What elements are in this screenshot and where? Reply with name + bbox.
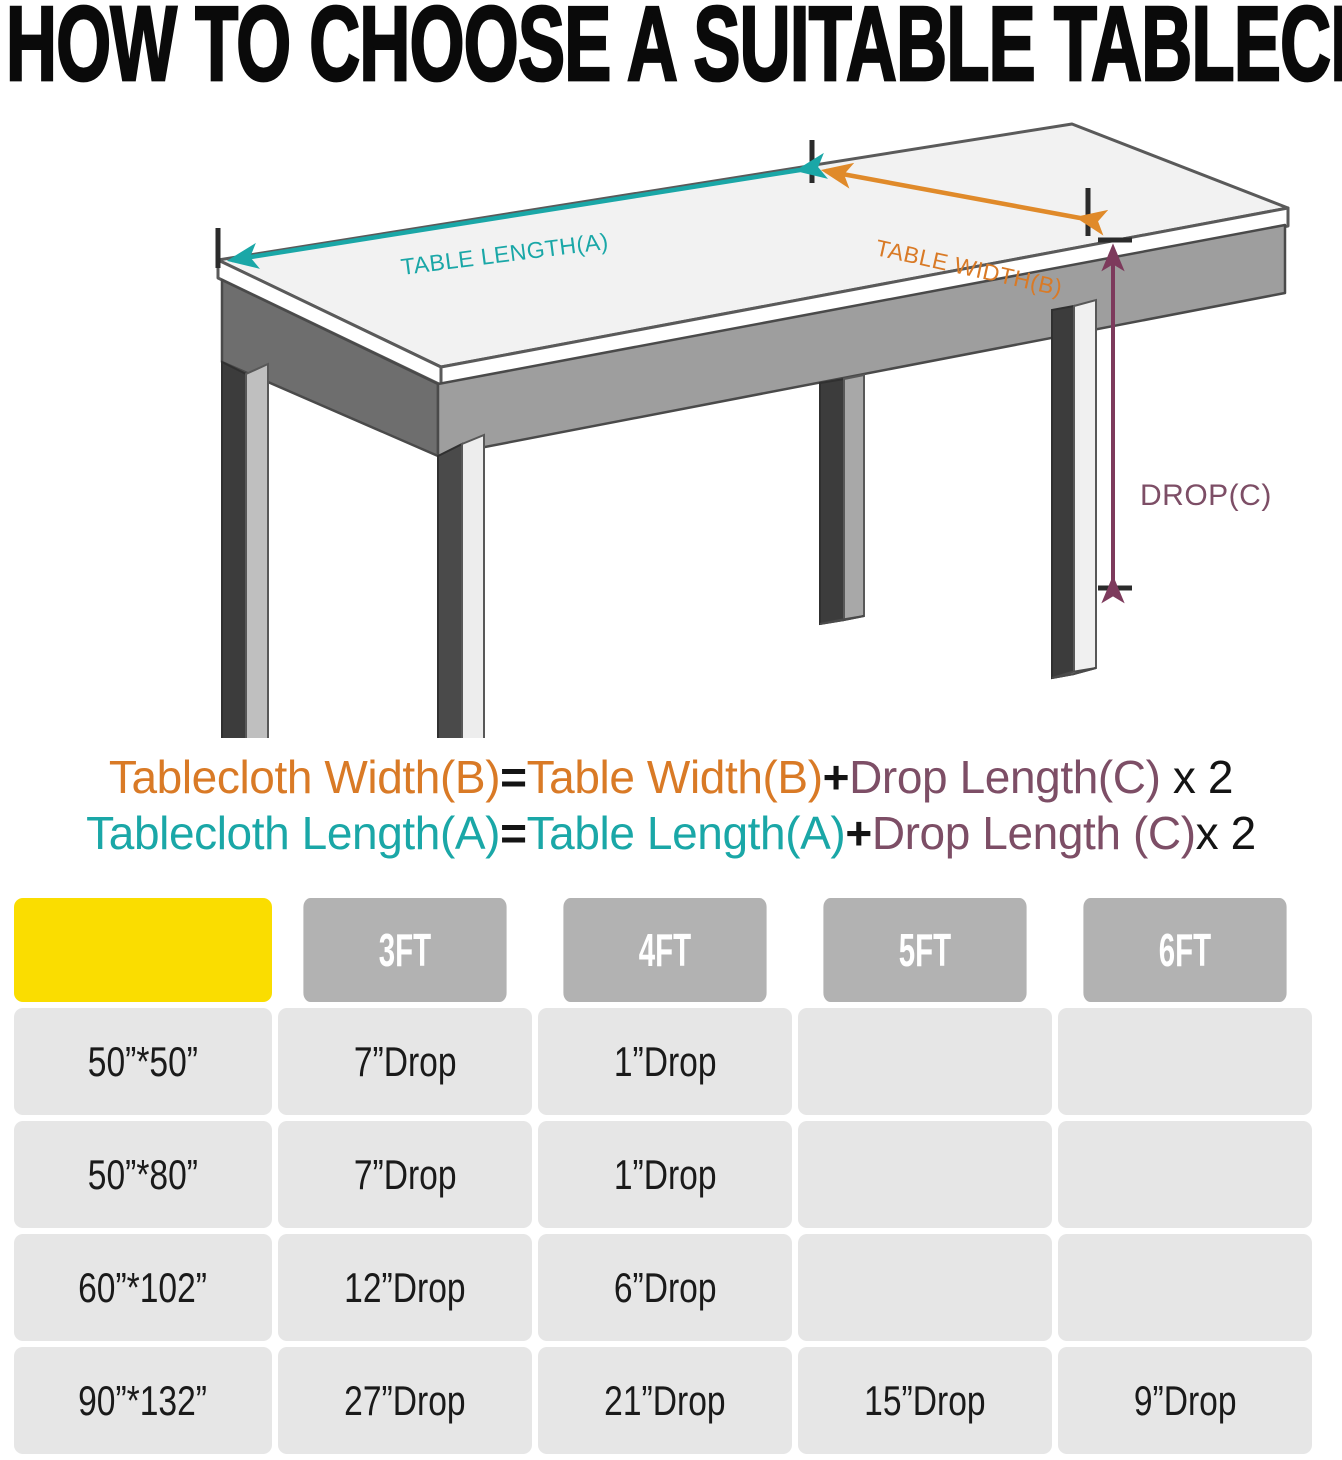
label-drop: DROP(C): [1140, 479, 1272, 513]
table-cell-size: 50”*50”: [14, 1008, 272, 1115]
table-cell-drop-6ft: [1058, 1008, 1312, 1115]
tablecloth-size-table: 3FT 4FT 5FT 6FT 50”*50” 7”Drop 1”Drop 50…: [14, 898, 1312, 1460]
table-illustration-svg: [0, 88, 1342, 738]
table-cell-drop-4ft: 1”Drop: [538, 1121, 792, 1228]
table-cell-drop-3ft-label: 12”Drop: [344, 1264, 465, 1312]
leg-back-middle-dark: [820, 379, 844, 624]
formula-width-part2: Table Width(B): [527, 751, 823, 803]
table-header-3ft-label: 3FT: [379, 923, 431, 977]
formula-length-part3: Drop Length (C): [872, 807, 1196, 859]
formula-width-part4: x 2: [1161, 751, 1234, 803]
formula-length-part2: Table Length(A): [527, 807, 846, 859]
leg-front-corner: [438, 435, 484, 738]
page-title: HOW TO CHOOSE A SUITABLE TABLECLOTH?: [6, 0, 1342, 88]
formula-length-plus: +: [845, 807, 871, 859]
table-row: 60”*102” 12”Drop 6”Drop: [14, 1234, 1312, 1341]
formula-length-part4: x 2: [1196, 807, 1256, 859]
table-cell-drop-4ft: 21”Drop: [538, 1347, 792, 1454]
table-cell-drop-6ft-label: 9”Drop: [1134, 1377, 1237, 1425]
table-cell-drop-3ft: 27”Drop: [278, 1347, 532, 1454]
table-cell-drop-4ft: 1”Drop: [538, 1008, 792, 1115]
table-cell-drop-5ft: 15”Drop: [798, 1347, 1052, 1454]
table-cell-drop-3ft: 7”Drop: [278, 1008, 532, 1115]
table-measurement-diagram: TABLE LENGTH(A) TABLE WIDTH(B) DROP(C): [0, 88, 1342, 738]
formula-block: Tablecloth Width(B)=Table Width(B)+Drop …: [0, 752, 1342, 872]
table-cell-size-label: 50”*50”: [88, 1038, 198, 1086]
table-cell-drop-6ft: 9”Drop: [1058, 1347, 1312, 1454]
leg-front-corner-dark: [438, 444, 462, 738]
leg-front-left-light: [246, 364, 268, 738]
leg-back-middle-light: [844, 375, 864, 620]
table-header-4ft: 4FT: [563, 898, 766, 1002]
table-header-5ft: 5FT: [823, 898, 1026, 1002]
table-header-3ft: 3FT: [303, 898, 506, 1002]
table-row: 90”*132” 27”Drop 21”Drop 15”Drop 9”Drop: [14, 1347, 1312, 1454]
table-cell-drop-6ft: [1058, 1121, 1312, 1228]
table-cell-size-label: 60”*102”: [79, 1264, 208, 1312]
table-cell-drop-5ft: [798, 1234, 1052, 1341]
table-cell-size-label: 90”*132”: [79, 1377, 208, 1425]
table-header-corner-cell: [14, 898, 272, 1002]
table-row: 50”*80” 7”Drop 1”Drop: [14, 1121, 1312, 1228]
table-cell-drop-3ft-label: 27”Drop: [344, 1377, 465, 1425]
table-header-4ft-label: 4FT: [639, 923, 691, 977]
table-cell-size: 90”*132”: [14, 1347, 272, 1454]
table-cell-drop-3ft: 7”Drop: [278, 1121, 532, 1228]
table-cell-drop-3ft-label: 7”Drop: [354, 1151, 457, 1199]
table-row: 50”*50” 7”Drop 1”Drop: [14, 1008, 1312, 1115]
formula-width-equals: =: [500, 751, 526, 803]
table-cell-drop-5ft-label: 15”Drop: [864, 1377, 985, 1425]
formula-width-plus: +: [823, 751, 849, 803]
table-header-6ft-label: 6FT: [1159, 923, 1211, 977]
table-cell-size-label: 50”*80”: [88, 1151, 198, 1199]
formula-length-part1: Tablecloth Length(A): [86, 807, 500, 859]
table-cell-drop-5ft: [798, 1121, 1052, 1228]
formula-length-equals: =: [500, 807, 526, 859]
leg-right: [1052, 300, 1096, 678]
formula-tablecloth-width: Tablecloth Width(B)=Table Width(B)+Drop …: [0, 752, 1342, 802]
formula-tablecloth-length: Tablecloth Length(A)=Table Length(A)+Dro…: [0, 808, 1342, 858]
table-cell-drop-4ft-label: 1”Drop: [614, 1151, 717, 1199]
table-cell-size: 50”*80”: [14, 1121, 272, 1228]
leg-right-dark: [1052, 306, 1074, 678]
table-cell-drop-3ft-label: 7”Drop: [354, 1038, 457, 1086]
formula-width-part1: Tablecloth Width(B): [109, 751, 500, 803]
title-bar: HOW TO CHOOSE A SUITABLE TABLECLOTH?: [0, 0, 1342, 88]
leg-front-left: [222, 362, 268, 738]
table-cell-drop-4ft: 6”Drop: [538, 1234, 792, 1341]
table-header-row: 3FT 4FT 5FT 6FT: [14, 898, 1312, 1002]
leg-front-left-dark: [222, 362, 246, 738]
leg-back-middle: [820, 375, 864, 624]
table-cell-drop-5ft: [798, 1008, 1052, 1115]
table-cell-drop-4ft-label: 1”Drop: [614, 1038, 717, 1086]
table-cell-drop-4ft-label: 6”Drop: [614, 1264, 717, 1312]
formula-width-part3: Drop Length(C): [849, 751, 1160, 803]
leg-front-corner-light: [462, 435, 484, 738]
table-cell-drop-3ft: 12”Drop: [278, 1234, 532, 1341]
table-header-6ft: 6FT: [1083, 898, 1286, 1002]
table-cell-drop-4ft-label: 21”Drop: [604, 1377, 725, 1425]
table-header-5ft-label: 5FT: [899, 923, 951, 977]
leg-right-light: [1074, 300, 1096, 674]
table-cell-drop-6ft: [1058, 1234, 1312, 1341]
table-cell-size: 60”*102”: [14, 1234, 272, 1341]
